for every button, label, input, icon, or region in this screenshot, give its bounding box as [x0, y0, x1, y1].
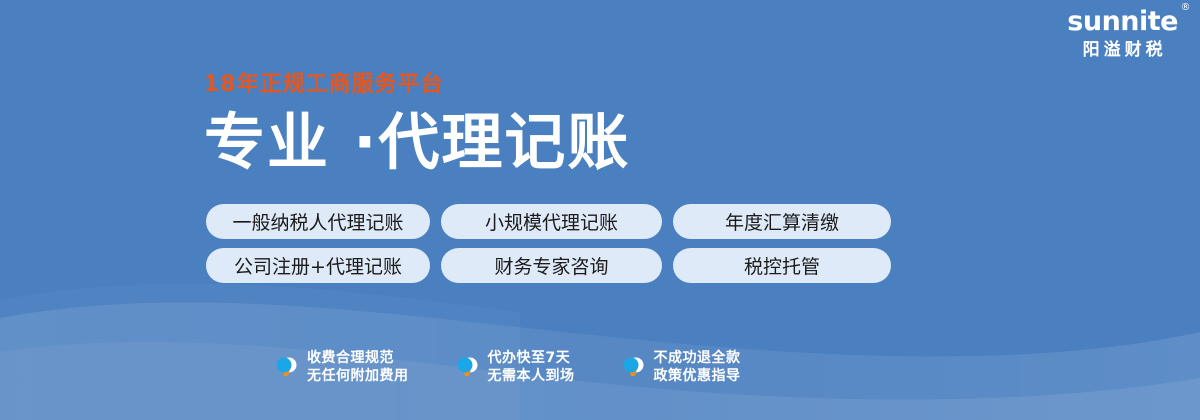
service-pill-small-scale-bookkeeping[interactable]: 小规模代理记账 — [441, 204, 662, 239]
feature-item: 不成功退全款 政策优惠指导 — [621, 349, 741, 385]
service-pill-tax-control-hosting[interactable]: 税控托管 — [673, 248, 891, 283]
logo-wordmark-text: sunnite — [1067, 6, 1178, 37]
headline-block: 18年正规工商服务平台 专业 ·代理记账 — [204, 74, 630, 173]
feature-text: 不成功退全款 政策优惠指导 — [654, 349, 741, 385]
promo-banner: sunnite ® 阳溢财税 18年正规工商服务平台 专业 ·代理记账 一般纳税… — [0, 0, 1200, 420]
logo-wordmark: sunnite ® — [1067, 8, 1178, 35]
feature-line-2: 政策优惠指导 — [654, 368, 741, 384]
feature-line-1: 代办快至7天 — [488, 350, 571, 366]
circle-crescent-icon — [455, 352, 479, 382]
service-pill-annual-tax-settlement[interactable]: 年度汇算清缴 — [673, 204, 891, 239]
circle-crescent-icon — [621, 352, 645, 382]
feature-text: 代办快至7天 无需本人到场 — [488, 349, 575, 385]
service-pill-general-taxpayer-bookkeeping[interactable]: 一般纳税人代理记账 — [206, 204, 430, 239]
service-pill-row: 一般纳税人代理记账 小规模代理记账 年度汇算清缴 — [206, 204, 891, 239]
logo-chinese-name: 阳溢财税 — [1067, 42, 1178, 59]
page-title: 专业 ·代理记账 — [204, 112, 630, 173]
feature-strip: 收费合理规范 无任何附加费用 代办快至7天 无需本人到场 — [274, 349, 741, 385]
feature-line-1: 收费合理规范 — [307, 350, 394, 366]
registered-trademark-icon: ® — [1181, 3, 1191, 13]
feature-line-1: 不成功退全款 — [654, 350, 741, 366]
feature-item: 收费合理规范 无任何附加费用 — [274, 349, 409, 385]
service-pill-financial-expert-consulting[interactable]: 财务专家咨询 — [441, 248, 662, 283]
service-pill-grid: 一般纳税人代理记账 小规模代理记账 年度汇算清缴 公司注册+代理记账 财务专家咨… — [206, 204, 891, 283]
feature-item: 代办快至7天 无需本人到场 — [455, 349, 575, 385]
feature-line-2: 无需本人到场 — [488, 368, 575, 384]
circle-crescent-icon — [274, 352, 298, 382]
service-pill-company-registration-bookkeeping[interactable]: 公司注册+代理记账 — [206, 248, 430, 283]
feature-text: 收费合理规范 无任何附加费用 — [307, 349, 409, 385]
headline-kicker: 18年正规工商服务平台 — [204, 74, 630, 96]
brand-logo: sunnite ® 阳溢财税 — [1067, 8, 1178, 59]
feature-line-2: 无任何附加费用 — [307, 368, 409, 384]
service-pill-row: 公司注册+代理记账 财务专家咨询 税控托管 — [206, 248, 891, 283]
